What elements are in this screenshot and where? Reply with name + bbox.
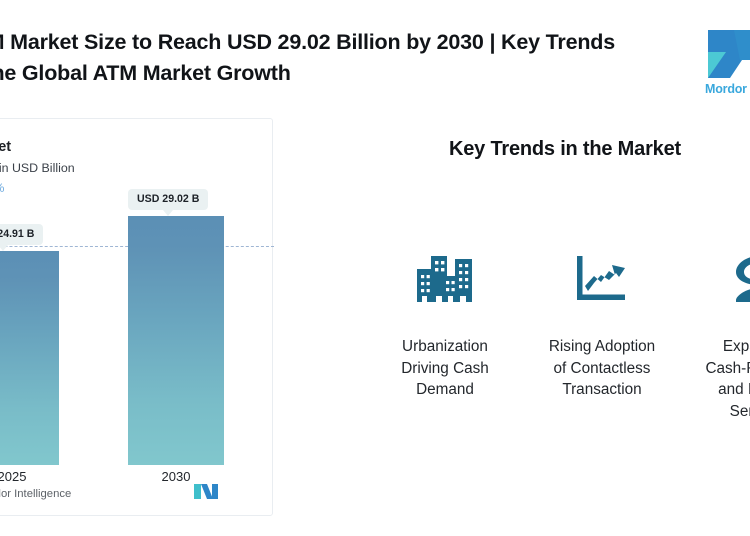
chart-footer-logo [193, 483, 219, 505]
bar-value-label-2030: USD 29.02 B [128, 189, 208, 210]
city-buildings-icon-svg [415, 254, 475, 304]
header: ATM Market Size to Reach USD 29.02 Billi… [0, 0, 750, 118]
chart-title: ATM Market [0, 139, 11, 155]
chart-plot-area: USD 24.91 B USD 29.02 B 2025 2030 [0, 215, 274, 465]
growth-chart-icon [524, 248, 680, 310]
mordor-intelligence-logo: Mordor [704, 26, 750, 98]
money-icon-svg [732, 254, 750, 304]
cagr-value: 3.10% [0, 181, 4, 195]
city-buildings-icon [367, 248, 523, 310]
key-trends-title: Key Trends in the Market [385, 138, 745, 161]
chart-subtitle: Market Size in USD Billion [0, 161, 75, 175]
trend-item-cash-recycling: Expanding Cash-Recycling and Deposit Ser… [681, 248, 750, 422]
market-size-chart-card: ATM Market Market Size in USD Billion CA… [0, 118, 273, 516]
infographic-root: ATM Market Size to Reach USD 29.02 Billi… [0, 0, 750, 536]
page-title: ATM Market Size to Reach USD 29.02 Billi… [0, 27, 640, 89]
x-axis-label-2025: 2025 [0, 469, 67, 484]
chart-cagr: CAGR 3.10% [0, 181, 4, 195]
chart-source-label: Source : Mordor Intelligence [0, 488, 71, 500]
trend-item-urbanization: Urbanization Driving Cash Demand [367, 248, 523, 401]
trend-label: Expanding Cash-Recycling and Deposit Ser… [681, 336, 750, 422]
mordor-logo-wordmark: Mordor [705, 82, 747, 96]
money-icon [681, 248, 750, 310]
trend-label: Rising Adoption of Contactless Transacti… [524, 336, 680, 401]
mordor-logo-mark [704, 26, 750, 82]
x-axis-label-2030: 2030 [121, 469, 231, 484]
bar-value-label-2025: USD 24.91 B [0, 224, 43, 245]
bar-2030 [128, 216, 224, 465]
trend-item-contactless: Rising Adoption of Contactless Transacti… [524, 248, 680, 401]
trend-label: Urbanization Driving Cash Demand [367, 336, 523, 401]
bar-2025 [0, 251, 59, 465]
mordor-mark-small-icon [193, 483, 219, 500]
key-trends-section: Key Trends in the Market [380, 130, 750, 460]
growth-chart-icon-svg [575, 254, 629, 304]
